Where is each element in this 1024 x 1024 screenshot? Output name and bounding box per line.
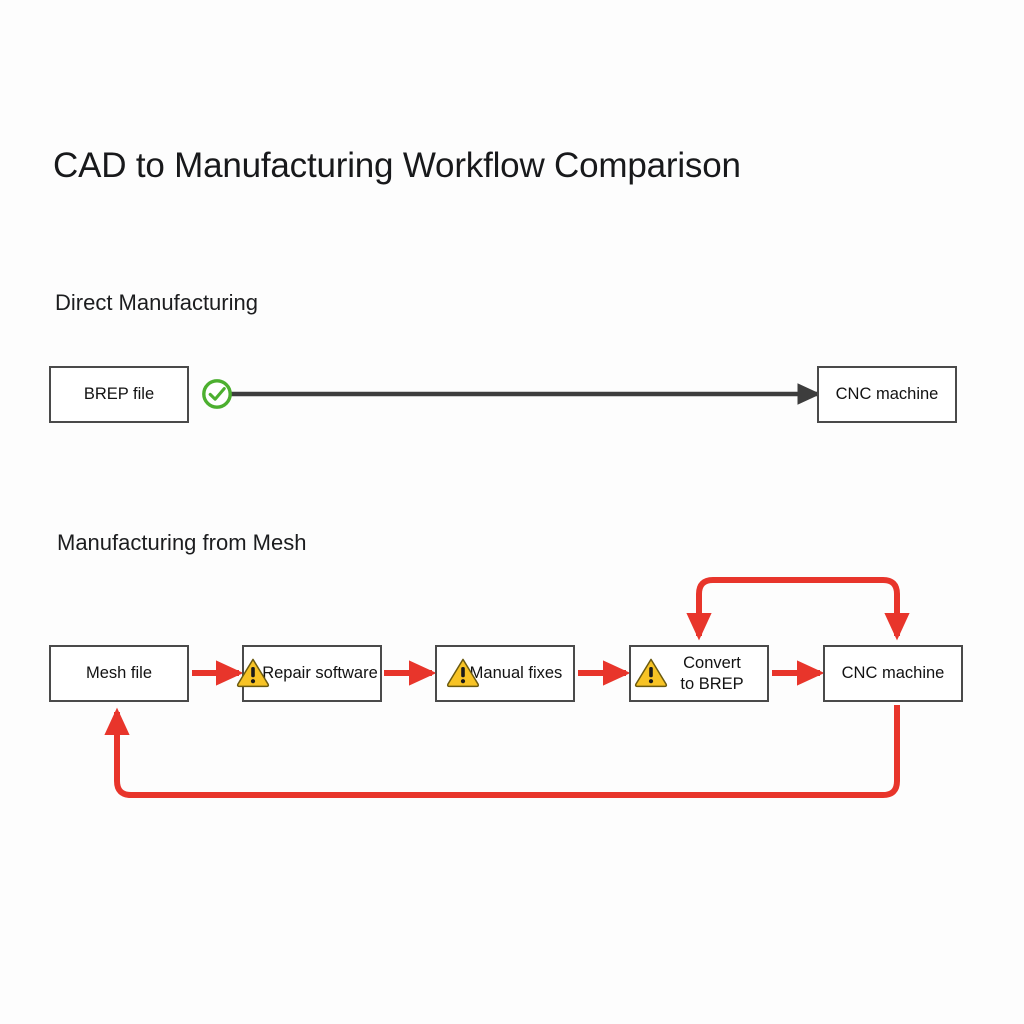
warning-icon-convert-to-brep: [634, 656, 668, 688]
node-mesh-file[interactable]: Mesh file: [49, 645, 189, 702]
check-circle-icon: [200, 377, 234, 411]
warning-icon-repair-software: [236, 656, 270, 688]
node-mesh-file-label: Mesh file: [86, 663, 152, 684]
warning-icon-manual-fixes: [446, 656, 480, 688]
node-cnc-machine-mesh[interactable]: CNC machine: [823, 645, 963, 702]
feedback-loop-upper: [699, 580, 897, 636]
feedback-loop-lower: [117, 705, 897, 795]
node-brep-file-label: BREP file: [84, 384, 154, 405]
node-brep-file[interactable]: BREP file: [49, 366, 189, 423]
node-cnc-machine-direct[interactable]: CNC machine: [817, 366, 957, 423]
diagram-canvas: CAD to Manufacturing Workflow Comparison…: [0, 0, 1024, 1024]
node-cnc-machine-direct-label: CNC machine: [836, 384, 939, 405]
node-cnc-machine-mesh-label: CNC machine: [842, 663, 945, 684]
connector-layer: [0, 0, 1024, 1024]
